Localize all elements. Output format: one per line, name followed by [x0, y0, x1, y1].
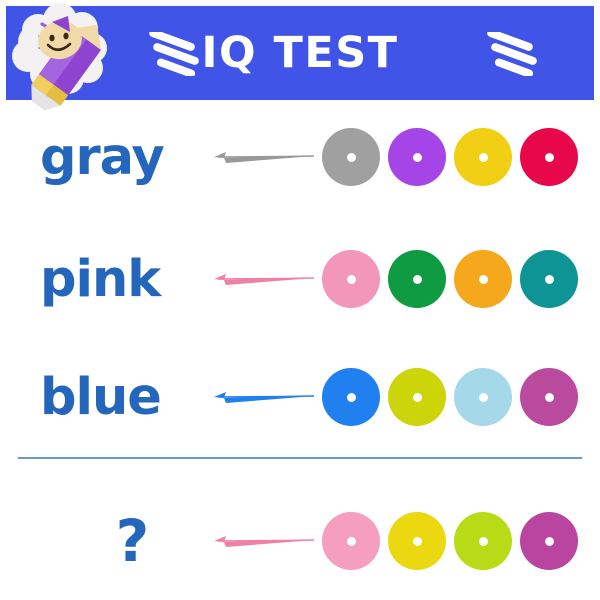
row-label-gray: gray — [40, 132, 230, 183]
row-label-pink: pink — [40, 254, 230, 305]
disc-hole — [479, 393, 488, 402]
color-disc[interactable] — [388, 128, 446, 186]
color-disc[interactable] — [322, 250, 380, 308]
disc-hole — [545, 537, 554, 546]
section-divider — [18, 457, 582, 459]
disc-hole — [545, 275, 554, 284]
disc-hole — [545, 393, 554, 402]
color-disc[interactable] — [454, 368, 512, 426]
arrow-left-icon-pink — [206, 267, 314, 291]
color-disc[interactable] — [388, 368, 446, 426]
speed-stripes-right-icon — [484, 32, 554, 76]
color-disc[interactable] — [520, 368, 578, 426]
color-disc-group — [322, 512, 578, 570]
iq-test-page: IQ TEST — [0, 0, 600, 600]
quiz-row: pink — [0, 234, 600, 324]
color-disc[interactable] — [454, 250, 512, 308]
page-title: IQ TEST — [201, 32, 398, 75]
arrow-left-icon-blue — [206, 385, 314, 409]
row-label-question: ? — [92, 512, 172, 570]
speed-stripes-left-icon — [146, 32, 216, 76]
color-disc[interactable] — [322, 368, 380, 426]
disc-hole — [479, 275, 488, 284]
pencil-mascot-icon — [8, 4, 118, 112]
color-disc[interactable] — [322, 128, 380, 186]
disc-hole — [413, 537, 422, 546]
color-disc[interactable] — [454, 512, 512, 570]
row-label-blue: blue — [40, 372, 230, 423]
color-disc-group — [322, 368, 578, 426]
quiz-row: blue — [0, 352, 600, 442]
color-disc[interactable] — [322, 512, 380, 570]
color-disc-group — [322, 128, 578, 186]
disc-hole — [479, 537, 488, 546]
color-disc[interactable] — [520, 250, 578, 308]
disc-hole — [413, 275, 422, 284]
color-disc[interactable] — [520, 128, 578, 186]
color-disc[interactable] — [454, 128, 512, 186]
color-disc-group — [322, 250, 578, 308]
color-disc[interactable] — [388, 512, 446, 570]
disc-hole — [413, 393, 422, 402]
arrow-left-icon-question — [206, 529, 314, 553]
quiz-row-answer: ? — [0, 496, 600, 586]
color-disc[interactable] — [388, 250, 446, 308]
disc-hole — [347, 275, 356, 284]
color-disc[interactable] — [520, 512, 578, 570]
disc-hole — [479, 153, 488, 162]
arrow-left-icon-gray — [206, 145, 314, 169]
disc-hole — [545, 153, 554, 162]
disc-hole — [347, 537, 356, 546]
quiz-row: gray — [0, 112, 600, 202]
disc-hole — [347, 393, 356, 402]
disc-hole — [347, 153, 356, 162]
disc-hole — [413, 153, 422, 162]
